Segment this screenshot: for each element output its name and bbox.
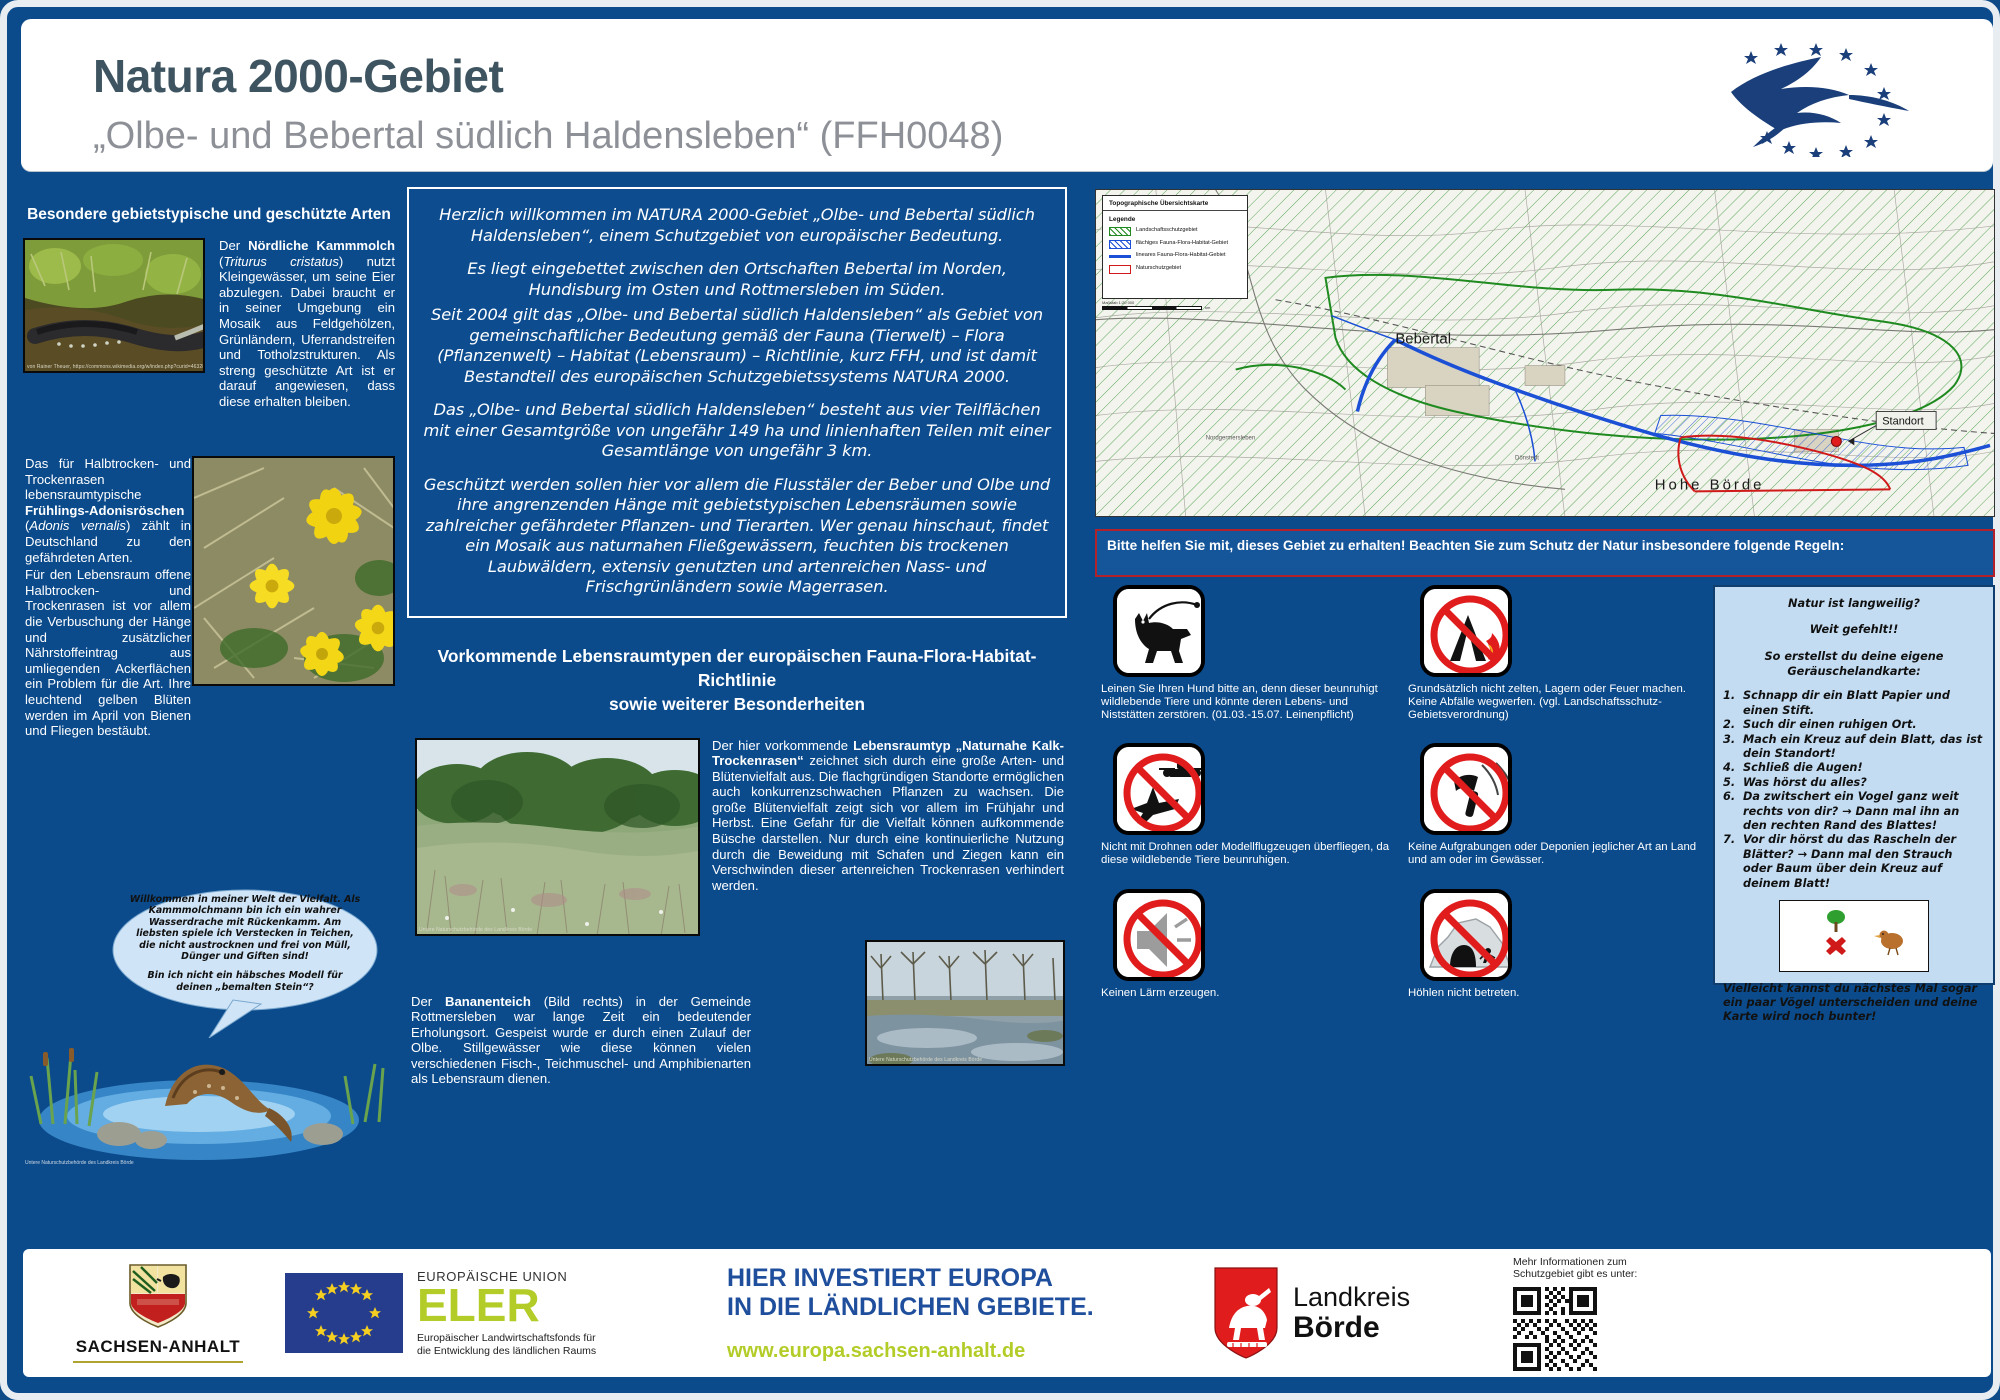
board-header: Natura 2000-Gebiet „Olbe- und Bebertal s… [21,19,1993,171]
map-scale-bar: Maßstab 1:20 000 km [1102,300,1248,310]
rule-item: Keine Aufgrabungen oder Deponien jeglich… [1406,743,1699,867]
kids-answer: Weit gefehlt!! [1723,623,1985,638]
kids-intro-line2: Geräuschelandkarte: [1723,665,1985,680]
welcome-paragraph-1: Herzlich willkommen im NATURA 2000-Gebie… [423,205,1051,246]
step-text: Da zwitschert ein Vogel ganz weit rechts… [1743,790,1985,833]
footer-eler: EUROPÄISCHE UNION ELER Europäischer Land… [285,1249,715,1377]
no-camping-no-fire-icon [1420,585,1512,677]
species1-name: Nördliche Kammmolch [248,238,395,253]
rule-item: Nicht mit Drohnen oder Modellflugzeugen … [1099,743,1392,867]
step-number: 7. [1723,833,1743,891]
step-number: 3. [1723,733,1743,762]
topographic-overview-map[interactable]: Bebertal Hohe Börde Dönstedt Nordgermers… [1095,189,1995,517]
habitat-text-2: zeichnet sich durch eine große Arten- un… [712,753,1064,893]
speech-bubble-line2: Bin ich nicht ein häbsches Modell für de… [129,970,361,993]
center-column: Herzlich willkommen im NATURA 2000-Gebie… [407,187,1067,1106]
welcome-paragraph-4: Das „Olbe- und Bebertal südlich Haldensl… [423,400,1051,462]
rules-pictogram-area: Leinen Sie Ihren Hund bitte an, denn die… [1099,585,1699,1000]
speech-bubble-line1: Willkommen in meiner Welt der Vielfalt. … [129,894,361,962]
no-cave-entry-icon [1420,889,1512,981]
qr-code-icon[interactable] [1513,1287,1597,1371]
newt-illustration-block: Willkommen in meiner Welt der Vielfalt. … [23,902,395,1162]
legend-item: flächiges Fauna-Flora-Habitat-Gebiet [1109,240,1242,249]
species2-text-1: Das für Halbtrocken- und Trockenrasen le… [25,456,191,502]
welcome-text: Herzlich willkommen im NATURA 2000-Gebie… [423,205,1051,598]
habitat-section-heading: Vorkommende Lebensraumtypen der europäis… [407,644,1067,716]
list-item: 5. Was hörst du alles? [1723,776,1985,790]
left-column-heading: Besondere gebietstypische und geschützte… [23,206,395,224]
footer-url[interactable]: www.europa.sachsen-anhalt.de [727,1340,1025,1363]
hatch-green-swatch-icon [1109,227,1131,236]
list-item: 2. Such dir einen ruhigen Ort. [1723,718,1985,732]
bananenteich-pond-photo: Untere Naturschutzbehörde des Landkreis … [865,940,1065,1066]
rule-text: Keinen Lärm erzeugen. [1099,987,1392,1000]
kids-steps-list: 1. Schnapp dir ein Blatt Papier und eine… [1723,689,1985,891]
tree-icon [1827,910,1845,932]
slogan-line1: HIER INVESTIERT EUROPA [727,1264,1094,1293]
information-board: Natura 2000-Gebiet „Olbe- und Bebertal s… [0,0,2000,1400]
svg-text:Nordgermersleben: Nordgermersleben [1206,435,1255,441]
illustration-credit: Untere Naturschutzbehörde des Landkreis … [25,1160,134,1166]
northern-crested-newt-photo: von Rainer Theuer, https://commons.wikim… [23,238,205,373]
eler-desc-line2: die Entwicklung des ländlichen Raums [417,1345,596,1358]
board-footer: SACHSEN-ANHALT [23,1249,1991,1377]
kids-noise-map-example [1779,900,1929,972]
legend-item-label: flächiges Fauna-Flora-Habitat-Gebiet [1136,240,1228,246]
welcome-paragraph-5: Geschützt werden sollen hier vor allem d… [423,475,1051,598]
landkreis-boerde-coat-of-arms-icon [1213,1266,1279,1360]
photo-credit: Untere Naturschutzbehörde des Landkreis … [419,927,532,933]
eu-flag-icon [285,1273,403,1353]
boerde-line1: Landkreis [1293,1282,1410,1312]
legend-item-label: Naturschutzgebiet [1136,265,1181,271]
newt-in-pond-illustration [23,998,395,1162]
species1-text-wrap: Der Nördliche Kammmolch (Triturus crista… [219,238,395,410]
footer-landkreis-boerde: Landkreis Börde [1213,1249,1513,1377]
qr-line1: Mehr Informationen zum [1513,1256,1637,1269]
speech-bubble: Willkommen in meiner Welt der Vielfalt. … [111,888,379,1016]
welcome-paragraph-3: Seit 2004 gilt das „Olbe- und Bebertal s… [423,305,1051,387]
no-noise-icon [1113,889,1205,981]
step-text: Schließ die Augen! [1743,761,1863,775]
legend-item: Landschaftsschutzgebiet [1109,227,1242,236]
step-text: Mach ein Kreuz auf dein Blatt, das ist d… [1743,733,1985,762]
rule-text: Grundsätzlich nicht zelten, Lagern oder … [1406,683,1699,723]
species2-latin-name: Adonis vernalis [29,518,126,533]
species1-latin-name: Triturus cristatus [223,254,339,269]
legend-item: lineares Fauna-Flora-Habitat-Gebiet [1109,252,1242,261]
list-item: 7. Vor dir hörst du das Rascheln der Blä… [1723,833,1985,891]
step-number: 4. [1723,761,1743,775]
calcareous-dry-grassland-photo: Untere Naturschutzbehörde des Landkreis … [415,738,700,936]
list-item: 4. Schließ die Augen! [1723,761,1985,775]
list-item: 6. Da zwitschert ein Vogel ganz weit rec… [1723,790,1985,833]
species2-text-4: Für den Lebensraum offene Halbtrocken- u… [25,567,191,739]
step-number: 1. [1723,689,1743,718]
bird-icon [1874,931,1903,956]
kids-question: Natur ist langweilig? [1723,597,1985,612]
pond-name: Bananenteich [445,994,531,1009]
rules-banner: Bitte helfen Sie mit, dieses Gebiet zu e… [1095,529,1995,577]
species2-text-wrap: Das für Halbtrocken- und Trockenrasen le… [25,456,191,739]
sachsen-anhalt-coat-of-arms-icon [127,1263,189,1329]
eler-desc-line1: Europäischer Landwirtschaftsfonds für [417,1332,596,1345]
step-number: 2. [1723,718,1743,732]
dog-on-leash-icon [1113,585,1205,677]
legend-item: Naturschutzgebiet [1109,265,1242,274]
step-text: Such dir einen ruhigen Ort. [1743,718,1917,732]
habitat-heading-line2: sowie weiterer Besonderheiten [407,692,1067,716]
footer-qr-block: Mehr Informationen zum Schutzgebiet gibt… [1513,1249,1813,1377]
sachsen-anhalt-label: SACHSEN-ANHALT [76,1337,240,1357]
boerde-line2: Börde [1293,1312,1410,1344]
no-digging-no-dumping-icon [1420,743,1512,835]
list-item: 3. Mach ein Kreuz auf dein Blatt, das is… [1723,733,1985,762]
rule-text: Höhlen nicht betreten. [1406,987,1699,1000]
red-cross-icon [1826,937,1846,955]
legend-item-label: lineares Fauna-Flora-Habitat-Gebiet [1136,252,1226,258]
map-legend: Topographische Übersichtskarte Legende L… [1102,195,1248,299]
footer-slogan: HIER INVESTIERT EUROPA IN DIE LÄNDLICHEN… [727,1249,1207,1377]
map-legend-label: Legende [1109,216,1242,223]
map-legend-title: Topographische Übersichtskarte [1103,196,1247,211]
slogan-line2: IN DIE LÄNDLICHEN GEBIETE. [727,1293,1094,1322]
pond-text: Der Bananenteich (Bild rechts) in der Ge… [411,994,751,1088]
habitat-text-1: Der hier vorkommende [712,738,853,753]
species1-text-3: ) nutzt Kleingewässer, um seine Eier abz… [219,254,395,409]
rule-item: Grundsätzlich nicht zelten, Lagern oder … [1406,585,1699,723]
rule-text: Keine Aufgrabungen oder Deponien jeglich… [1406,841,1699,867]
photo-credit: Untere Naturschutzbehörde des Landkreis … [869,1057,982,1063]
hatch-blue-swatch-icon [1109,240,1131,249]
species1-text-1: Der [219,238,248,253]
outline-red-swatch-icon [1109,265,1131,274]
list-item: 1. Schnapp dir ein Blatt Papier und eine… [1723,689,1985,718]
page-subtitle: „Olbe- und Bebertal südlich Haldensleben… [93,115,1003,158]
rule-item: Keinen Lärm erzeugen. [1099,889,1392,1000]
rule-text: Leinen Sie Ihren Hund bitte an, denn die… [1099,683,1392,723]
svg-text:Dönstedt: Dönstedt [1515,455,1539,461]
step-text: Was hörst du alles? [1743,776,1867,790]
qr-line2: Schutzgebiet gibt es unter: [1513,1268,1637,1281]
line-blue-swatch-icon [1109,252,1131,261]
kids-intro-line1: So erstellst du deine eigene [1723,650,1985,665]
map-location-marker-label: Standort [1882,415,1923,427]
map-place-label-bebertal: Bebertal [1395,331,1451,348]
map-place-label-hohe-boerde: Hohe Börde [1655,476,1765,493]
legend-item-label: Landschaftsschutzgebiet [1136,227,1198,233]
kids-footer-text: Vielleicht kannst du nächstes Mal sogar … [1723,982,1985,1025]
species2-name: Frühlings-Adonisröschen [25,503,184,518]
step-text: Vor dir hörst du das Rascheln der Blätte… [1743,833,1985,891]
spring-pheasants-eye-photo [192,456,395,686]
welcome-box: Herzlich willkommen im NATURA 2000-Gebie… [407,187,1067,618]
rule-item: Höhlen nicht betreten. [1406,889,1699,1000]
eu-natura-bird-stars-icon [1701,37,1931,157]
footer-sachsen-anhalt: SACHSEN-ANHALT [53,1249,263,1377]
photo-credit: von Rainer Theuer, https://commons.wikim… [27,364,205,370]
step-number: 5. [1723,776,1743,790]
habitat-text: Der hier vorkommende Lebensraumtyp „Natu… [712,738,1064,894]
eler-title: ELER [417,1282,596,1328]
pond-text-1: Der [411,994,445,1009]
welcome-paragraph-2: Es liegt eingebettet zwischen den Ortsch… [423,259,1051,300]
no-drones-no-model-aircraft-icon [1113,743,1205,835]
rule-item: Leinen Sie Ihren Hund bitte an, denn die… [1099,585,1392,723]
left-column: Besondere gebietstypische und geschützte… [23,182,395,1237]
rule-text: Nicht mit Drohnen oder Modellflugzeugen … [1099,841,1392,867]
map-scale-unit: km [1205,305,1210,310]
step-number: 6. [1723,790,1743,833]
step-text: Schnapp dir ein Blatt Papier und einen S… [1743,689,1985,718]
habitat-heading-line1: Vorkommende Lebensraumtypen der europäis… [407,644,1067,692]
kids-activity-box: Natur ist langweilig? Weit gefehlt!! So … [1713,585,1995,985]
page-title: Natura 2000-Gebiet [93,49,503,103]
